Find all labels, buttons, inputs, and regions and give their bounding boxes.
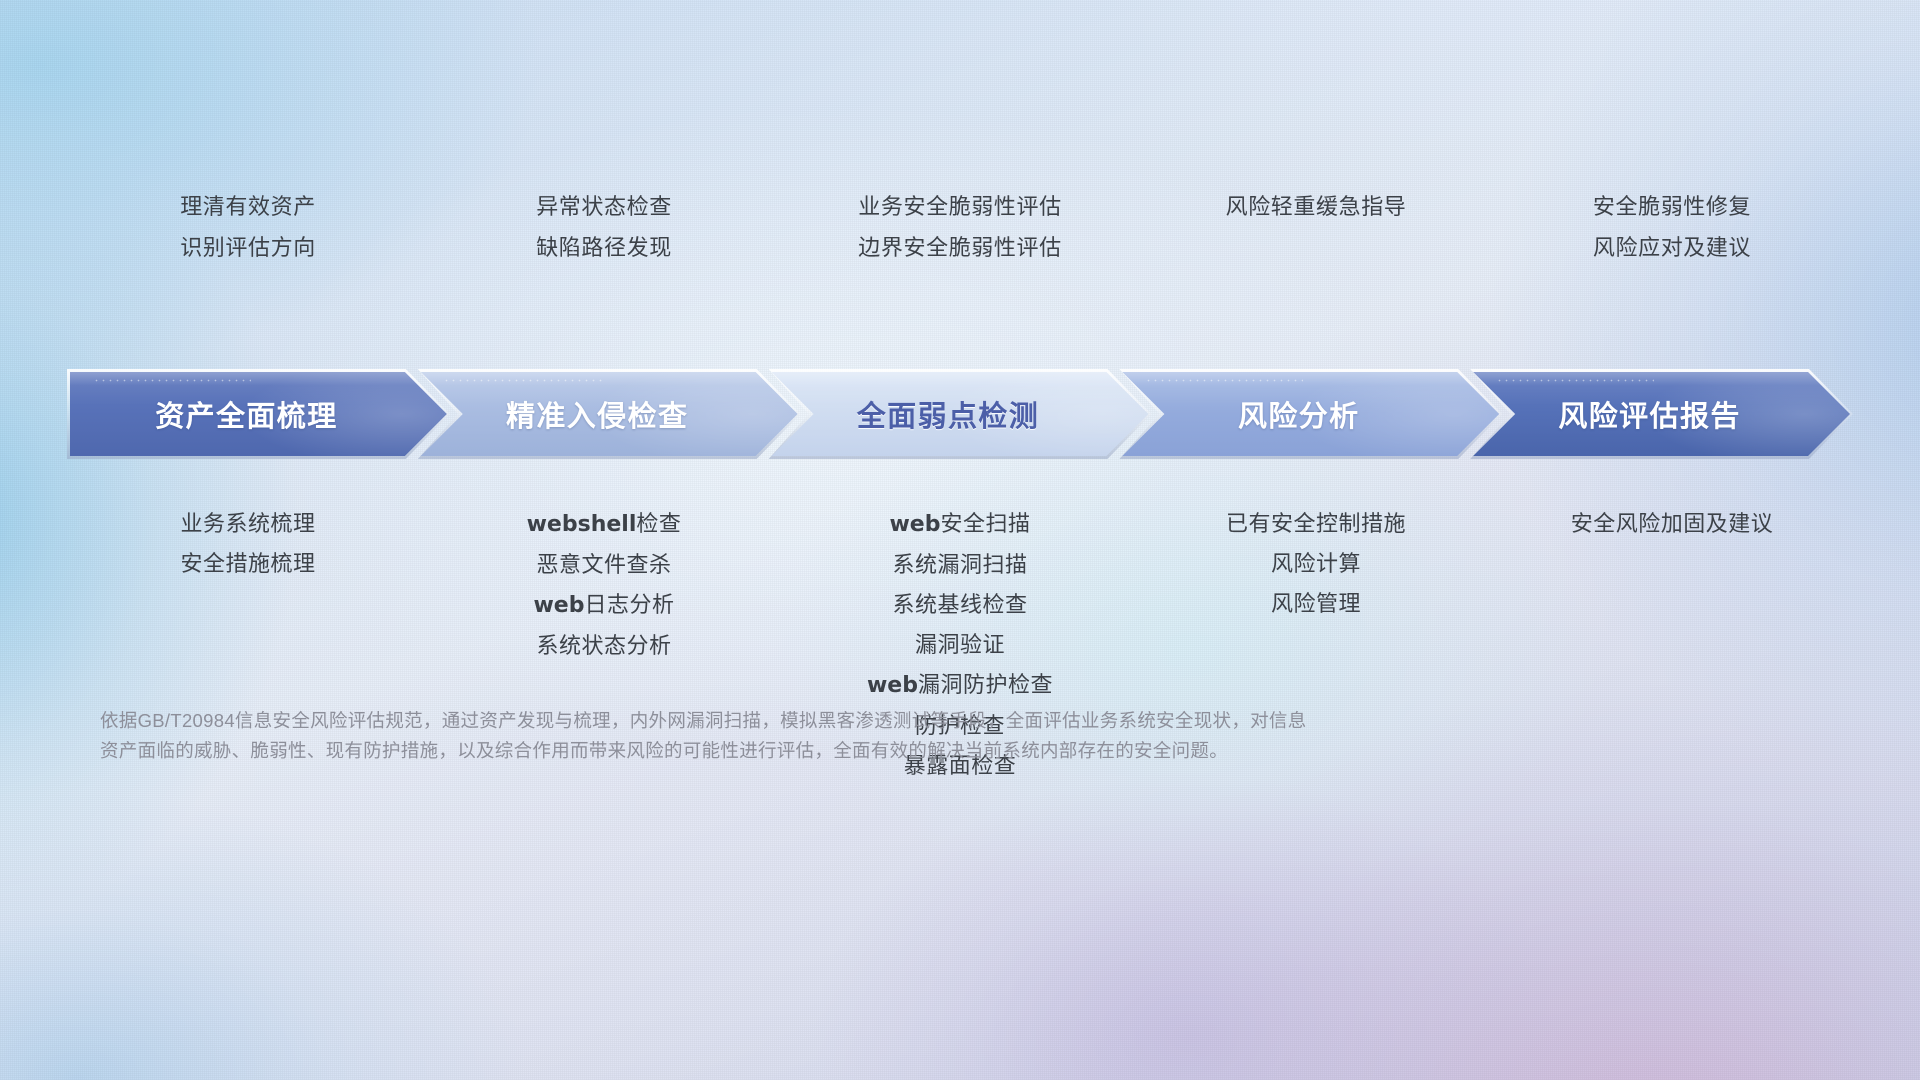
top-label-group-1: 理清有效资产 识别评估方向 <box>70 186 426 268</box>
list-item: 业务系统梳理 <box>70 504 426 544</box>
top-label-line: 边界安全脆弱性评估 <box>782 227 1138 268</box>
top-label-line: 理清有效资产 <box>70 186 426 227</box>
top-label-line: 缺陷路径发现 <box>426 227 782 268</box>
chevron-stage-2[interactable]: 精准入侵检查 <box>421 372 798 456</box>
list-item: 安全措施梳理 <box>70 544 426 584</box>
list-item: 安全风险加固及建议 <box>1494 504 1850 544</box>
chevron-stage-title: 资产全面梳理 <box>155 393 337 435</box>
chevron-stage-3[interactable]: 全面弱点检测 <box>772 372 1149 456</box>
list-item: 风险管理 <box>1138 584 1494 624</box>
chevron-dot-texture <box>443 377 601 384</box>
chevron-stage-5[interactable]: 风险评估报告 <box>1473 372 1850 456</box>
chevron-stage-title: 风险评估报告 <box>1558 393 1740 435</box>
footer-description: 依据GB/T20984信息安全风险评估规范，通过资产发现与梳理，内外网漏洞扫描，… <box>100 706 1700 766</box>
list-item: 系统基线检查 <box>782 585 1138 625</box>
chevron-dot-texture <box>1145 377 1303 384</box>
list-item: 系统漏洞扫描 <box>782 545 1138 585</box>
top-label-line: 识别评估方向 <box>70 227 426 268</box>
top-labels-row: 理清有效资产 识别评估方向 异常状态检查 缺陷路径发现 业务安全脆弱性评估 边界… <box>70 186 1850 268</box>
top-label-line: 安全脆弱性修复 <box>1494 186 1850 227</box>
chevron-stage-title: 精准入侵检查 <box>506 393 688 435</box>
list-item: 恶意文件查杀 <box>426 545 782 585</box>
chevron-dot-texture <box>1496 377 1654 384</box>
list-item: 漏洞验证 <box>782 625 1138 665</box>
chevron-stage-title: 全面弱点检测 <box>857 393 1039 435</box>
chevron-stage-4[interactable]: 风险分析 <box>1122 372 1499 456</box>
top-label-line: 风险应对及建议 <box>1494 227 1850 268</box>
top-label-group-4: 风险轻重缓急指导 <box>1138 186 1494 268</box>
chevron-stage-title: 风险分析 <box>1238 393 1360 435</box>
top-label-line: 异常状态检查 <box>426 186 782 227</box>
top-label-group-3: 业务安全脆弱性评估 边界安全脆弱性评估 <box>782 186 1138 268</box>
process-chevron-band: 资产全面梳理 精准入侵检查 全面弱点检测 风险分析 <box>70 372 1850 456</box>
list-item: 已有安全控制措施 <box>1138 504 1494 544</box>
list-item: 风险计算 <box>1138 544 1494 584</box>
chevron-stage-1[interactable]: 资产全面梳理 <box>70 372 447 456</box>
top-label-group-2: 异常状态检查 缺陷路径发现 <box>426 186 782 268</box>
list-item: web漏洞防护检查 <box>782 665 1138 706</box>
top-label-group-5: 安全脆弱性修复 风险应对及建议 <box>1494 186 1850 268</box>
chevron-dot-texture <box>93 377 251 384</box>
top-label-line: 风险轻重缓急指导 <box>1138 186 1494 227</box>
footer-line-2: 资产面临的威胁、脆弱性、现有防护措施，以及综合作用而带来风险的可能性进行评估，全… <box>100 736 1700 766</box>
list-item: 系统状态分析 <box>426 626 782 666</box>
list-item: web安全扫描 <box>782 504 1138 545</box>
footer-line-1: 依据GB/T20984信息安全风险评估规范，通过资产发现与梳理，内外网漏洞扫描，… <box>100 706 1700 736</box>
top-label-line: 业务安全脆弱性评估 <box>782 186 1138 227</box>
list-item: webshell检查 <box>426 504 782 545</box>
list-item: web日志分析 <box>426 585 782 626</box>
